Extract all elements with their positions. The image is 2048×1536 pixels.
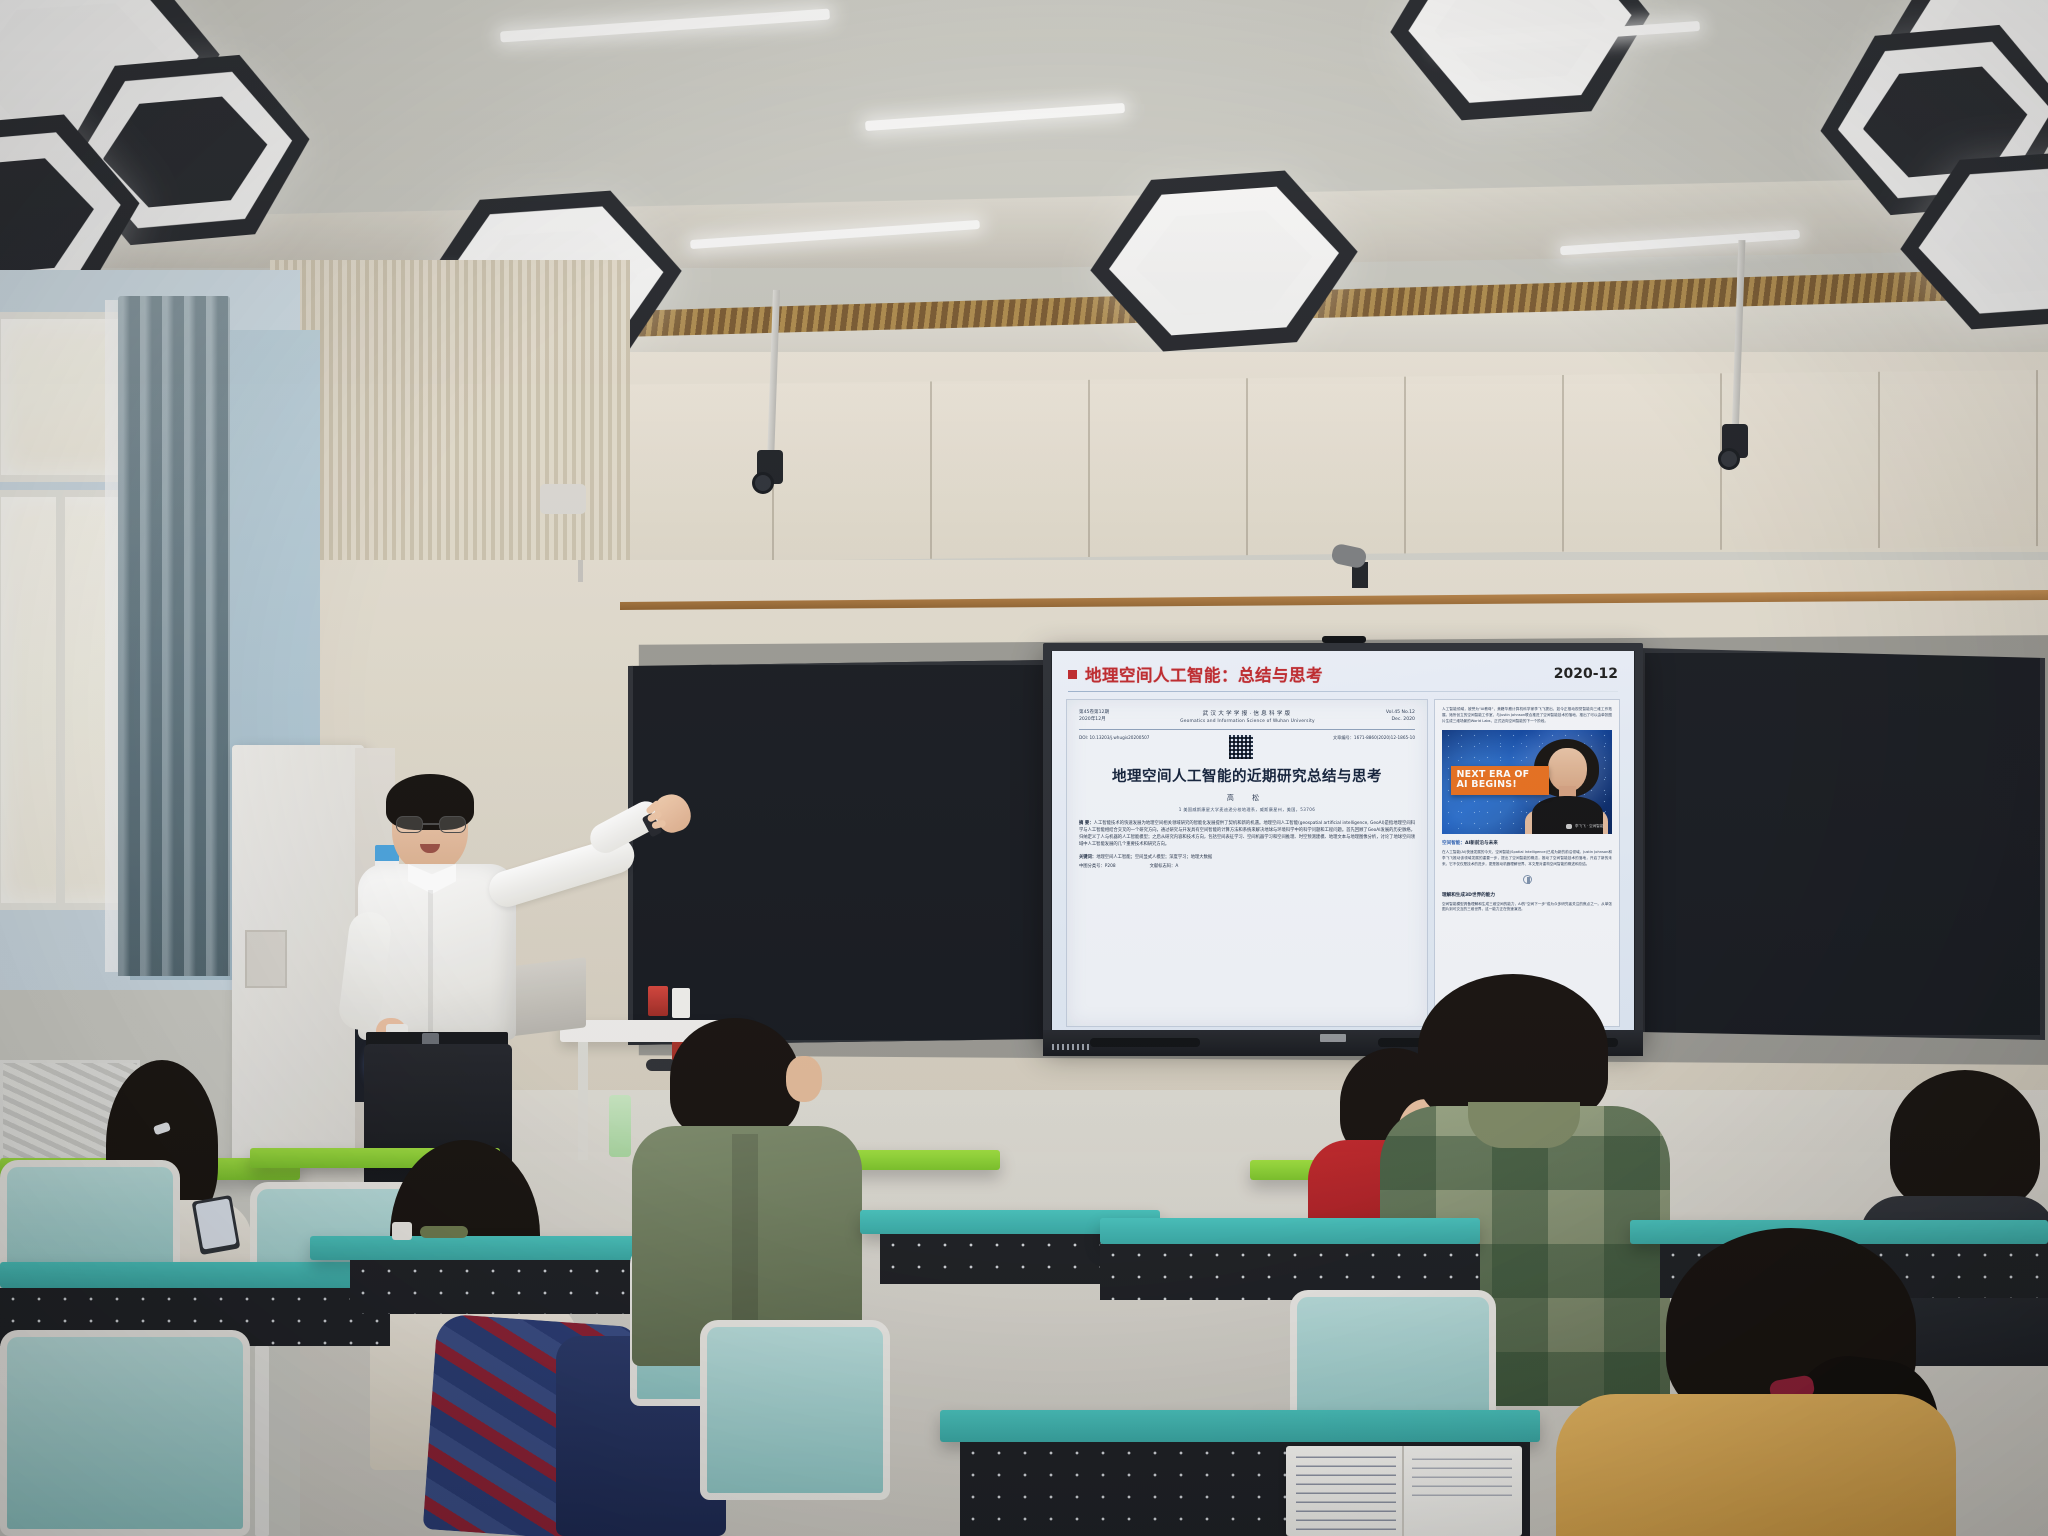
glasses-lens-right: [439, 816, 466, 833]
paper-keywords-row: 关键词：地理空间人工智能；空间显式人模型；深度学习；地理大数据: [1079, 854, 1415, 860]
article-top-paragraph: 人工智能领域，被誉为"AI教母"，美籍华裔计算机科学家李飞飞提出，如今正推动视觉…: [1442, 707, 1612, 724]
slide-title: 地理空间人工智能：总结与思考: [1085, 662, 1323, 686]
paper-abstract: 摘 要：人工智能技术的快速发展为地理空间相关领域研究的智能化发展提供了契机和新的…: [1079, 821, 1415, 849]
chair-front-left-2[interactable]: [0, 1330, 250, 1536]
hex-light-fixture: [1894, 146, 2048, 334]
eraser: [392, 1222, 412, 1240]
camera-lens-icon: [752, 472, 774, 494]
student-hair: [1890, 1070, 2040, 1210]
article-section-1-text: 在人工智能(AI)快速发展的今天，空间智能(Spatial Intelligen…: [1442, 850, 1612, 867]
abstract-text: 人工智能技术的快速发展为地理空间相关领域研究的智能化发展提供了契机和新的机遇。地…: [1079, 821, 1415, 847]
journal-masthead: 第45卷第12期 2020年12月 武汉大学学报·信息科学版 Geomatics…: [1079, 710, 1415, 725]
notebook-spine: [1402, 1446, 1404, 1536]
portrait-face: [1548, 748, 1587, 792]
masthead-rule: [1079, 729, 1415, 730]
student-ear-side: [786, 1056, 822, 1102]
slide-header-divider: [1068, 691, 1618, 692]
glasses-icon: [396, 816, 466, 833]
fleece-collar: [1468, 1102, 1580, 1148]
photo-watermark: 李飞飞 · 空间智能: [1566, 824, 1604, 829]
journal-volume-cn: 第45卷第12期: [1079, 710, 1109, 717]
watermark-text: 李飞飞 · 空间智能: [1575, 824, 1604, 829]
hex-light-fixture: [1384, 0, 1656, 125]
pen: [420, 1226, 468, 1238]
lectern-control-panel[interactable]: [245, 930, 287, 988]
student-center: [636, 1018, 856, 1348]
article-section-2-text: 空间智能模型具备理解和生成三维空间的能力，AI的"空间下一步"成为众多研究者关注…: [1442, 902, 1612, 914]
paper-affiliation: 1 美国威斯康星大学麦迪逊分校地理系，威斯康星州，美国，53706: [1079, 807, 1415, 813]
blackboard-left: [628, 660, 1048, 1045]
desk-teal-front: [940, 1410, 1540, 1442]
document-code: 文献标志码：A: [1150, 863, 1179, 869]
journal-volume-en: Vol.45 No.12: [1386, 710, 1415, 717]
paper-classification-row: 中图分类号：P208 文献标志码：A: [1079, 863, 1415, 869]
journal-date-cn: 2020年12月: [1079, 717, 1109, 724]
student-hair: [670, 1018, 800, 1138]
clc-number: 中图分类号：P208: [1079, 863, 1116, 869]
journal-name-block: 武汉大学学报·信息科学版 Geomatics and Information S…: [1109, 710, 1386, 725]
smartboard-speaker-left: [1090, 1038, 1200, 1047]
notebook-handwriting-left: [1296, 1456, 1396, 1530]
glasses-bridge: [423, 823, 439, 825]
journal-volume-block: 第45卷第12期 2020年12月: [1079, 710, 1109, 723]
article-section-1-heading: 空间智能：AI新前沿与未来: [1442, 840, 1612, 846]
smartboard-camera-icon: [1322, 636, 1366, 643]
camera-lens-icon: [1718, 448, 1740, 470]
window-mullion: [56, 490, 65, 910]
ai-banner: NEXT ERA OF AI BEGINS!: [1451, 766, 1550, 795]
classroom-scene: 地理空间人工智能：总结与思考 2020-12 第45卷第12期 2020年12月…: [0, 0, 2048, 1536]
desk-teal-left-front: [0, 1262, 390, 1288]
paper-title: 地理空间人工智能的近期研究总结与思考: [1079, 765, 1415, 786]
shirt-placket: [428, 890, 433, 1040]
mustard-puffer-jacket: [1556, 1394, 1956, 1536]
article-number: 文章编号：1671-8860(2020)12-1865-10: [1333, 735, 1415, 741]
qr-code: [1229, 735, 1253, 759]
wall-speaker: [540, 484, 586, 514]
section-1-label: 空间智能：: [1442, 841, 1465, 846]
hex-light-fixture: [1084, 166, 1363, 356]
presenter: [330, 780, 660, 1180]
section-divider-icon: [1523, 875, 1532, 884]
square-bullet-icon: [1068, 670, 1077, 679]
student-right-front: [1556, 1228, 1976, 1536]
section-1-title: AI新前沿与未来: [1465, 841, 1498, 846]
sensor-stem: [578, 560, 583, 582]
abstract-label: 摘 要：: [1079, 821, 1094, 826]
chair-center[interactable]: [700, 1320, 890, 1500]
paper-author: 高 松: [1079, 793, 1415, 803]
keywords-label: 关键词：: [1079, 855, 1096, 860]
doi-row: DOI: 10.13203/j.whugis20200507 文章编号：1671…: [1079, 735, 1415, 759]
journal-volume-en-block: Vol.45 No.12 Dec. 2020: [1386, 710, 1415, 723]
notebook-handwriting-right: [1412, 1456, 1512, 1496]
article-section-2-heading: 理解和生成3D世界的能力: [1442, 892, 1612, 898]
keywords-text: 地理空间人工智能；空间显式人模型；深度学习；地理大数据: [1096, 855, 1212, 860]
blackout-curtain[interactable]: [118, 296, 230, 976]
glasses-lens-left: [396, 816, 423, 833]
slide-date: 2020-12: [1554, 666, 1618, 682]
desk-leg: [255, 1346, 269, 1536]
journal-name-cn: 武汉大学学报·信息科学版: [1109, 710, 1386, 718]
journal-date-en: Dec. 2020: [1386, 717, 1415, 724]
smartboard-control-buttons[interactable]: [1052, 1044, 1092, 1050]
chat-bubble-icon: [1566, 824, 1572, 829]
ai-banner-line2: AI BEGINS!: [1457, 780, 1544, 791]
slide-header: 地理空间人工智能：总结与思考 2020-12: [1052, 659, 1634, 689]
white-cup: [672, 988, 690, 1018]
blackboard-right: [1640, 648, 2045, 1040]
journal-name-en: Geomatics and Information Science of Wuh…: [1109, 719, 1386, 725]
ai-keynote-photo: NEXT ERA OF AI BEGINS! 李飞飞 · 空间智能: [1442, 730, 1612, 834]
doi-label: DOI: 10.13203/j.whugis20200507: [1079, 735, 1149, 740]
desk-teal-right-mid: [1100, 1218, 1480, 1244]
